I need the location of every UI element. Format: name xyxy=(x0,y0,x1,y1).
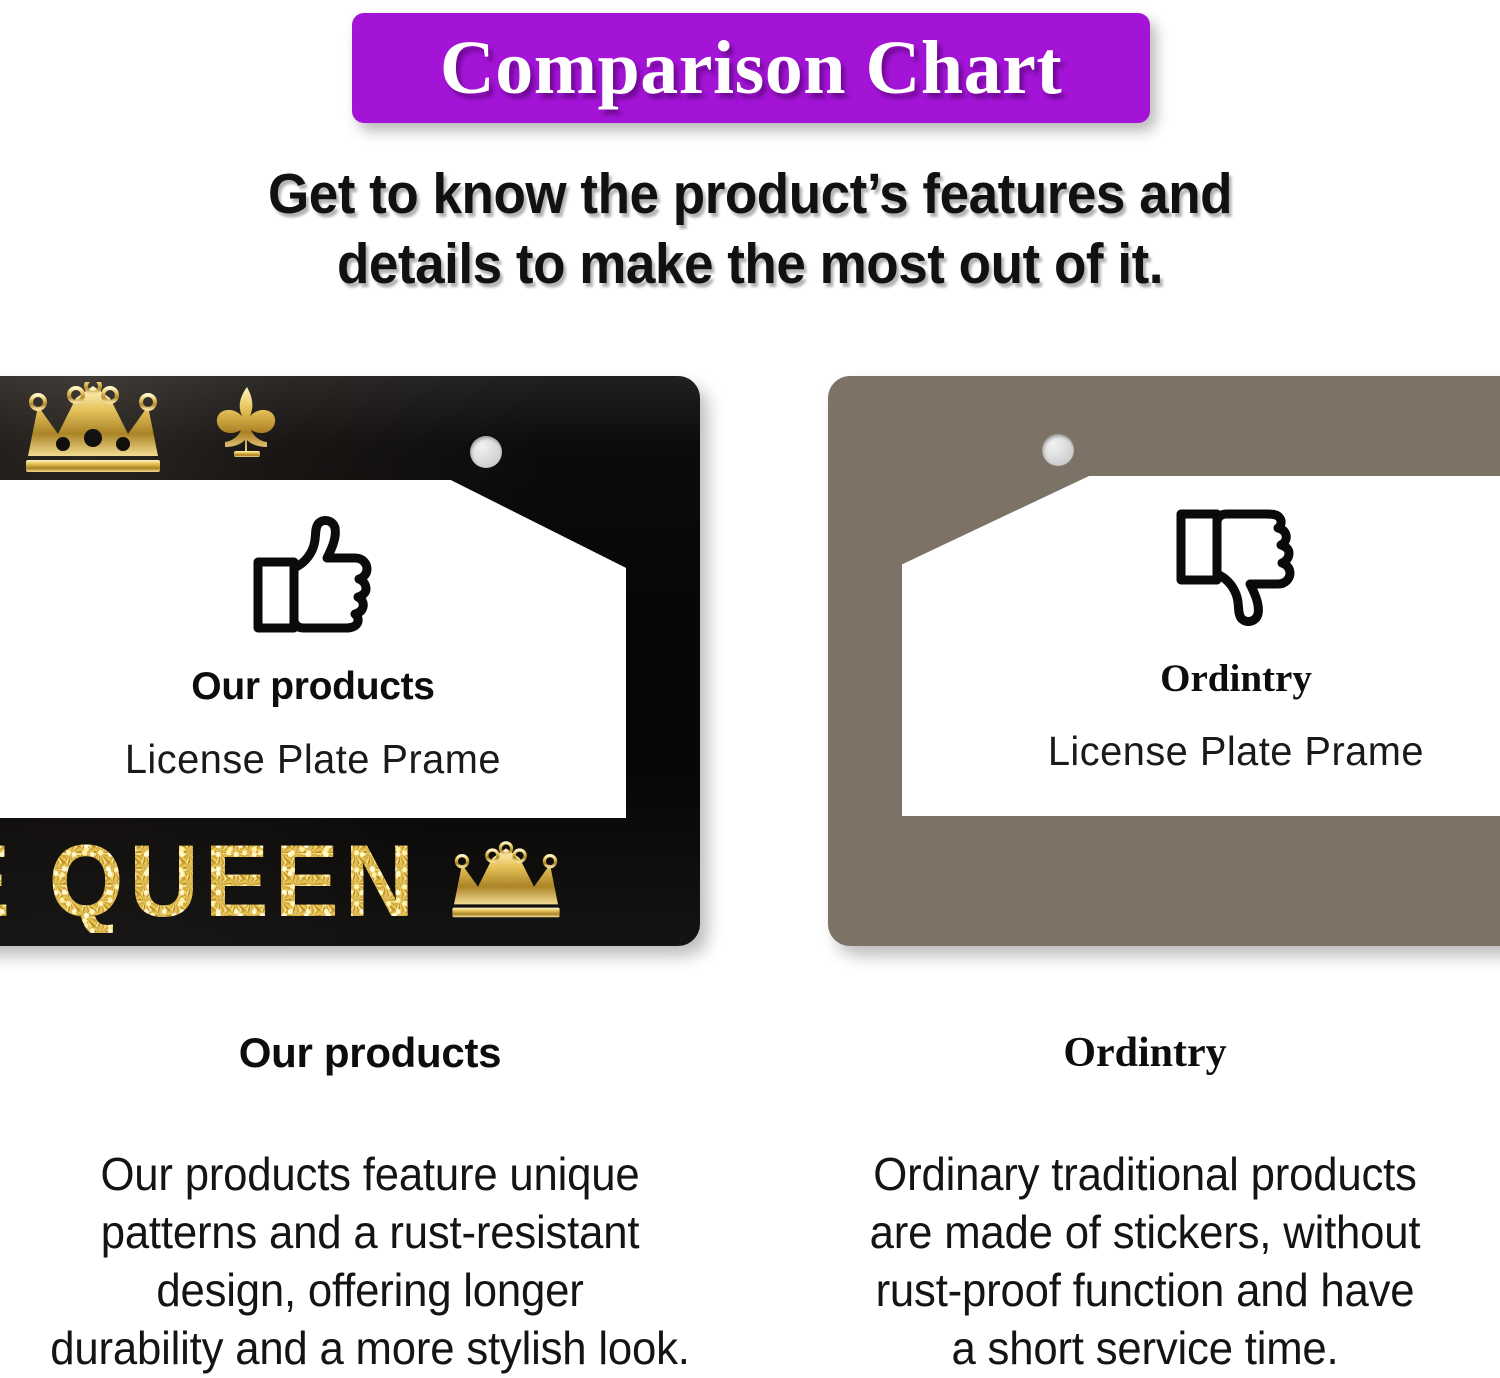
window-subheading-ours: License Plate Prame xyxy=(125,739,501,780)
crown-icon xyxy=(446,839,566,925)
gold-motif-band-top xyxy=(0,376,700,480)
caption-line: rust-proof function and have xyxy=(817,1262,1473,1320)
subtitle-line-2: details to make the most out of it. xyxy=(53,230,1448,300)
caption-line: durability and a more stylish look. xyxy=(38,1320,703,1378)
fleur-de-lis-icon xyxy=(212,385,282,471)
caption-column-ours: Our products Our products feature unique… xyxy=(20,1032,720,1378)
title-banner: Comparison Chart xyxy=(352,13,1150,123)
plate-window: Ordintry License Plate Prame xyxy=(902,476,1500,816)
plate-bottom-text: E QUEEN xyxy=(0,831,420,933)
license-plate-frame-rusted: Ordintry License Plate Prame xyxy=(828,376,1500,946)
caption-title-ours: Our products xyxy=(20,1032,720,1074)
caption-line: Ordinary traditional products xyxy=(817,1146,1473,1204)
caption-line: a short service time. xyxy=(817,1320,1473,1378)
caption-body-ours: Our products feature unique patterns and… xyxy=(38,1146,703,1378)
mount-hole-top xyxy=(1042,434,1074,466)
gold-text-band-bottom: E QUEEN xyxy=(0,818,700,946)
thumbs-up-icon xyxy=(251,514,375,641)
product-frame-ordinary: Ordintry License Plate Prame xyxy=(828,376,1500,946)
license-plate-frame-black: E QUEEN xyxy=(0,376,700,946)
caption-line: design, offering longer xyxy=(38,1262,703,1320)
thumbs-down-icon xyxy=(1174,506,1298,633)
caption-line: patterns and a rust-resistant xyxy=(38,1204,703,1262)
plate-window: Our products License Plate Prame xyxy=(0,480,626,818)
caption-line: Our products feature unique xyxy=(38,1146,703,1204)
window-heading-ours: Our products xyxy=(191,667,434,706)
product-frame-ours: E QUEEN xyxy=(0,376,700,946)
caption-title-ordinary: Ordintry xyxy=(800,1032,1490,1074)
caption-body-ordinary: Ordinary traditional products are made o… xyxy=(817,1146,1473,1378)
window-heading-ordinary: Ordintry xyxy=(1160,659,1312,698)
window-subheading-ordinary: License Plate Prame xyxy=(1048,731,1424,772)
subtitle-line-1: Get to know the product’s features and xyxy=(53,160,1448,230)
crown-icon xyxy=(18,382,168,474)
mount-hole-top xyxy=(470,436,502,468)
page-title: Comparison Chart xyxy=(440,30,1062,106)
caption-column-ordinary: Ordintry Ordinary traditional products a… xyxy=(800,1032,1490,1378)
caption-line: are made of stickers, without xyxy=(817,1204,1473,1262)
subtitle: Get to know the product’s features and d… xyxy=(53,160,1448,299)
